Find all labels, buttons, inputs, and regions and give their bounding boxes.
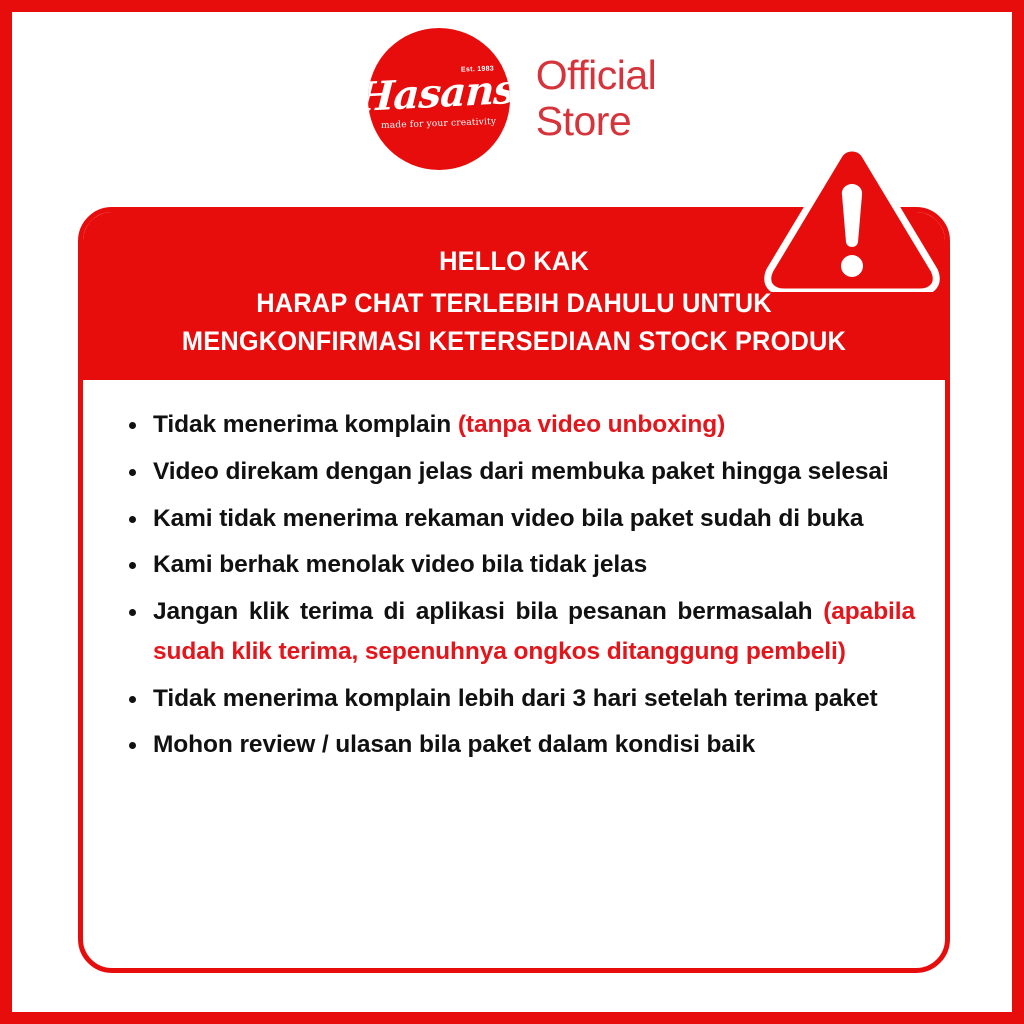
rule-text: Kami tidak menerima rekaman video bila p… <box>153 505 863 532</box>
header-line-2: HARAP CHAT TERLEBIH DAHULU UNTUK <box>125 287 903 320</box>
poster-canvas: Est. 1983 Hasans made for your creativit… <box>12 12 1012 1012</box>
rule-item: Video direkam dengan jelas dari membuka … <box>117 452 915 492</box>
rule-text: Video direkam dengan jelas dari membuka … <box>153 458 889 485</box>
rule-item: Jangan klik terima di aplikasi bila pesa… <box>117 592 915 671</box>
notice-card-body: Tidak menerima komplain (tanpa video unb… <box>83 379 945 792</box>
rule-text: Tidak menerima komplain <box>153 411 458 438</box>
rule-item: Kami tidak menerima rekaman video bila p… <box>117 499 915 539</box>
rules-list: Tidak menerima komplain (tanpa video unb… <box>117 405 915 765</box>
notice-card: HELLO KAK HARAP CHAT TERLEBIH DAHULU UNT… <box>78 207 950 973</box>
header-line-1: HELLO KAK <box>125 245 903 278</box>
poster-frame: Est. 1983 Hasans made for your creativit… <box>0 0 1024 1024</box>
rule-text: Mohon review / ulasan bila paket dalam k… <box>153 731 755 758</box>
rule-item: Tidak menerima komplain lebih dari 3 har… <box>117 679 915 719</box>
brand-header: Est. 1983 Hasans made for your creativit… <box>12 24 1012 174</box>
header-line-3: MENGKONFIRMASI KETERSEDIAAN STOCK PRODUK <box>125 325 903 358</box>
rule-item: Mohon review / ulasan bila paket dalam k… <box>117 725 915 765</box>
rule-text: Jangan klik terima di aplikasi bila pesa… <box>153 598 823 625</box>
logo-wordmark: Hasans <box>368 69 510 117</box>
rule-text: Kami berhak menolak video bila tidak jel… <box>153 551 647 578</box>
rule-text-emphasis: (tanpa video unboxing) <box>458 411 725 438</box>
rule-item: Kami berhak menolak video bila tidak jel… <box>117 545 915 585</box>
rule-text: Tidak menerima komplain lebih dari 3 har… <box>153 685 878 712</box>
hasans-logo: Est. 1983 Hasans made for your creativit… <box>368 28 510 170</box>
notice-card-header: HELLO KAK HARAP CHAT TERLEBIH DAHULU UNT… <box>82 211 946 380</box>
rule-item: Tidak menerima komplain (tanpa video unb… <box>117 405 915 445</box>
official-store-label: Official Store <box>536 53 657 145</box>
